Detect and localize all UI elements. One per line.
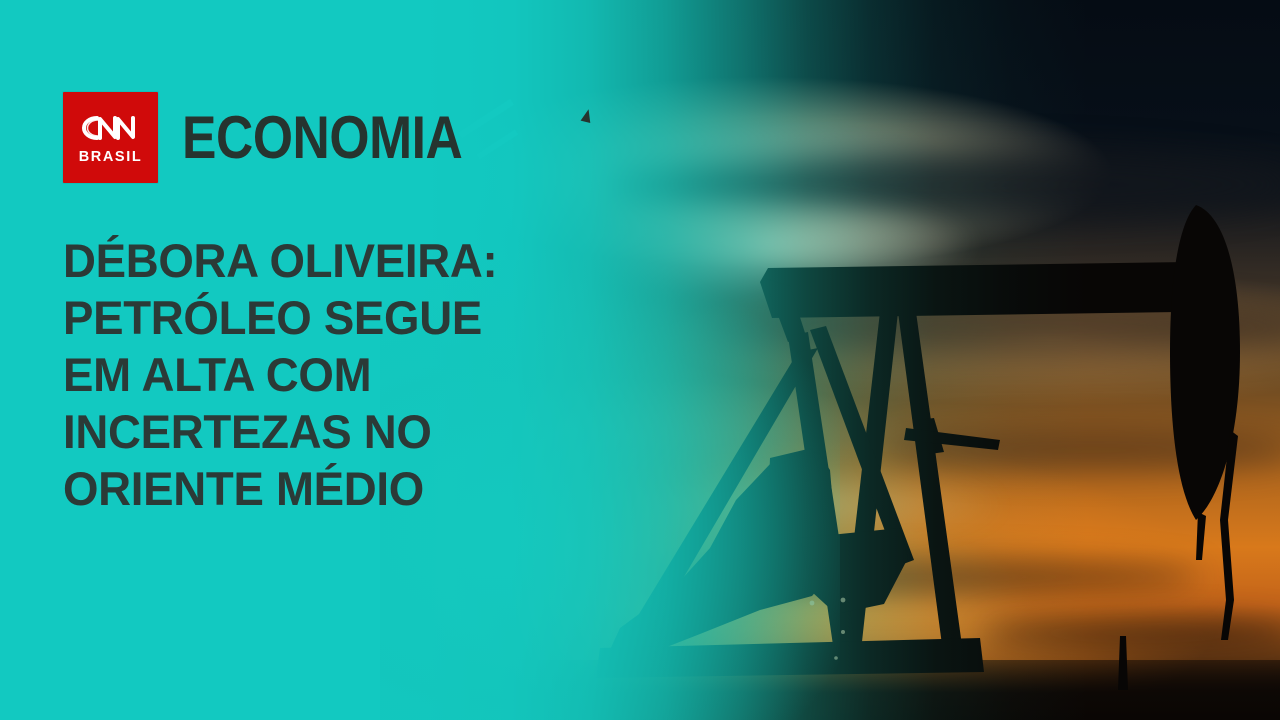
headline-line-3: EM ALTA COM — [63, 346, 567, 403]
cnn-logo-icon: BRASIL — [63, 92, 158, 183]
brand-header: BRASIL ECONOMIA — [63, 92, 508, 183]
headline-line-2: PETRÓLEO SEGUE — [63, 289, 567, 346]
headline: DÉBORA OLIVEIRA: PETRÓLEO SEGUE EM ALTA … — [63, 232, 583, 517]
cnn-brasil-label: BRASIL — [79, 149, 143, 165]
economia-slash-accent — [458, 99, 514, 139]
headline-line-5: ORIENTE MÉDIO — [63, 460, 567, 517]
cnn-wordmark-icon — [76, 110, 146, 146]
economia-label: ECONOMIA — [182, 110, 462, 165]
headline-line-1: DÉBORA OLIVEIRA: — [63, 232, 567, 289]
accent-tick-icon — [581, 108, 594, 123]
section-wordmark: ECONOMIA — [182, 110, 508, 165]
content-layer: BRASIL ECONOMIA DÉBORA OLIVEIRA: PETRÓLE… — [0, 0, 1280, 720]
economia-slash-accent-2 — [476, 129, 518, 159]
headline-line-4: INCERTEZAS NO — [63, 403, 567, 460]
thumbnail-card: BRASIL ECONOMIA DÉBORA OLIVEIRA: PETRÓLE… — [0, 0, 1280, 720]
